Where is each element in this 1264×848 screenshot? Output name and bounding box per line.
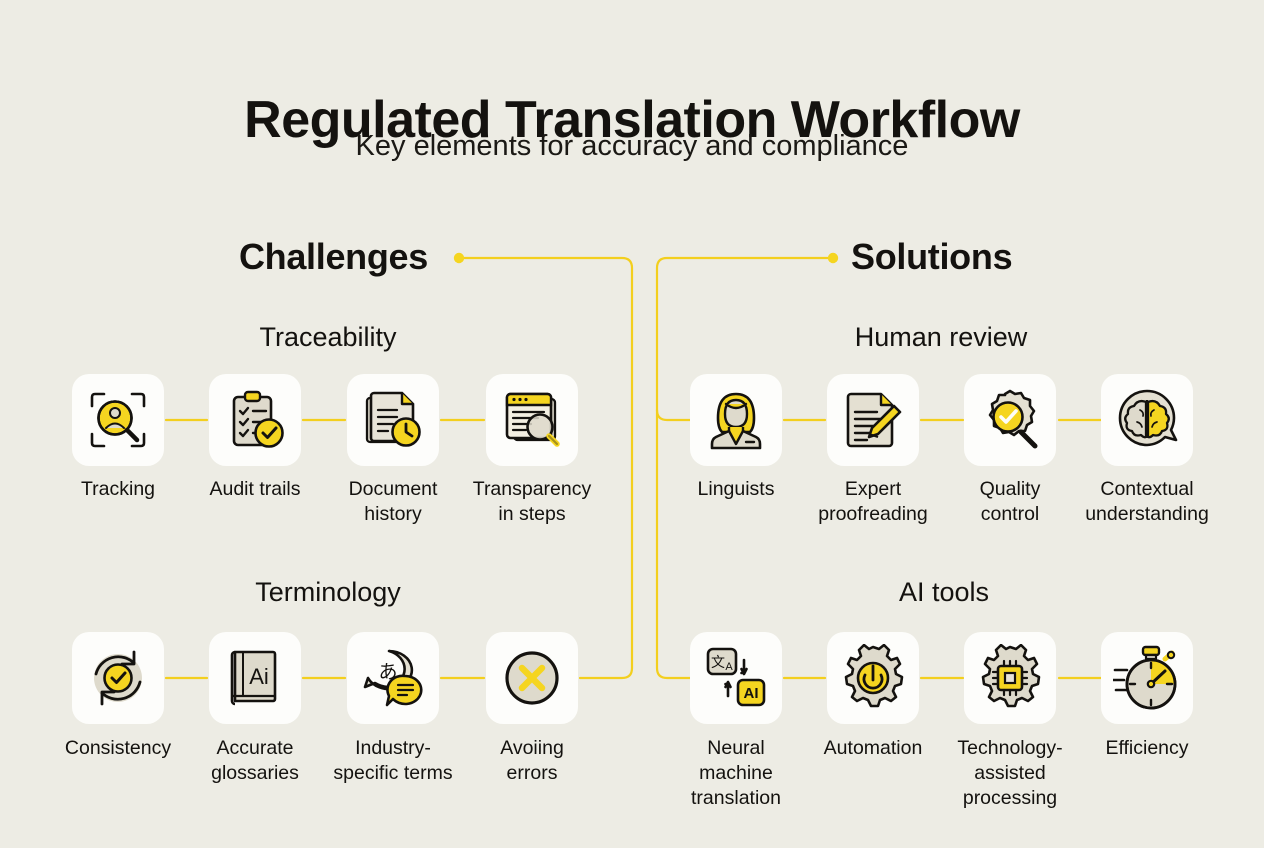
ai-book-icon: Ai xyxy=(221,644,289,712)
item-label-accurate-glossaries: Accurateglossaries xyxy=(180,736,330,786)
icon-card-efficiency[interactable] xyxy=(1101,632,1193,724)
item-label-audit-trails: Audit trails xyxy=(180,477,330,502)
document-pencil-icon xyxy=(839,386,907,454)
item-label-consistency: Consistency xyxy=(43,736,193,761)
icon-card-tracking[interactable] xyxy=(72,374,164,466)
svg-text:Ai: Ai xyxy=(249,664,269,689)
browser-magnifier-icon xyxy=(498,386,566,454)
item-label-efficiency: Efficiency xyxy=(1072,736,1222,761)
gear-chip-icon xyxy=(976,644,1044,712)
item-label-document-history: Documenthistory xyxy=(318,477,468,527)
refresh-check-icon xyxy=(84,644,152,712)
group-title-terminology: Terminology xyxy=(228,577,428,608)
page-subtitle: Key elements for accuracy and compliance xyxy=(0,130,1264,163)
stopwatch-icon xyxy=(1113,644,1181,712)
icon-card-transparency-in-steps[interactable] xyxy=(486,374,578,466)
clipboard-check-icon xyxy=(221,386,289,454)
icon-card-contextual-understanding[interactable] xyxy=(1101,374,1193,466)
icon-card-technology-assisted-processing[interactable] xyxy=(964,632,1056,724)
icon-card-accurate-glossaries[interactable]: Ai xyxy=(209,632,301,724)
group-title-traceability: Traceability xyxy=(228,322,428,353)
item-label-quality-control: Qualitycontrol xyxy=(935,477,1085,527)
document-clock-icon xyxy=(359,386,427,454)
svg-text:A: A xyxy=(725,661,733,673)
item-label-avoiding-errors: Avoiingerrors xyxy=(457,736,607,786)
icon-card-quality-control[interactable] xyxy=(964,374,1056,466)
item-label-transparency-in-steps: Transparencyin steps xyxy=(457,477,607,527)
item-label-automation: Automation xyxy=(798,736,948,761)
side-heading-challenges: Challenges xyxy=(239,236,428,278)
solutions-connector-dot xyxy=(828,253,838,263)
translate-chat-icon: あ xyxy=(359,644,427,712)
svg-text:AI: AI xyxy=(744,685,759,702)
group-title-ai-tools: AI tools xyxy=(844,577,1044,608)
icon-card-document-history[interactable] xyxy=(347,374,439,466)
item-label-linguists: Linguists xyxy=(661,477,811,502)
icon-card-industry-specific-terms[interactable]: あ xyxy=(347,632,439,724)
group-title-human-review: Human review xyxy=(841,322,1041,353)
challenges-connector-dot xyxy=(454,253,464,263)
icon-card-automation[interactable] xyxy=(827,632,919,724)
icon-card-linguists[interactable] xyxy=(690,374,782,466)
item-label-neural-machine-translation: Neuralmachinetranslation xyxy=(661,736,811,811)
icon-card-consistency[interactable] xyxy=(72,632,164,724)
gear-power-icon xyxy=(839,644,907,712)
error-cross-icon xyxy=(498,644,566,712)
icon-card-expert-proofreading[interactable] xyxy=(827,374,919,466)
item-label-contextual-understanding: Contextualunderstanding xyxy=(1072,477,1222,527)
svg-text:文: 文 xyxy=(711,655,725,671)
infographic-canvas: Regulated Translation Workflow Key eleme… xyxy=(0,0,1264,848)
item-label-expert-proofreading: Expertproofreading xyxy=(798,477,948,527)
linguist-person-icon xyxy=(702,386,770,454)
person-search-icon xyxy=(84,386,152,454)
side-heading-solutions: Solutions xyxy=(851,236,1012,278)
icon-card-avoiding-errors[interactable] xyxy=(486,632,578,724)
item-label-technology-assisted-processing: Technology-assistedprocessing xyxy=(935,736,1085,811)
item-label-tracking: Tracking xyxy=(43,477,193,502)
item-label-industry-specific-terms: Industry-specific terms xyxy=(318,736,468,786)
icon-card-neural-machine-translation[interactable]: 文 A AI xyxy=(690,632,782,724)
icon-card-audit-trails[interactable] xyxy=(209,374,301,466)
brain-bubble-icon xyxy=(1113,386,1181,454)
quality-badge-magnifier-icon xyxy=(976,386,1044,454)
neural-translate-ai-icon: 文 A AI xyxy=(702,644,770,712)
